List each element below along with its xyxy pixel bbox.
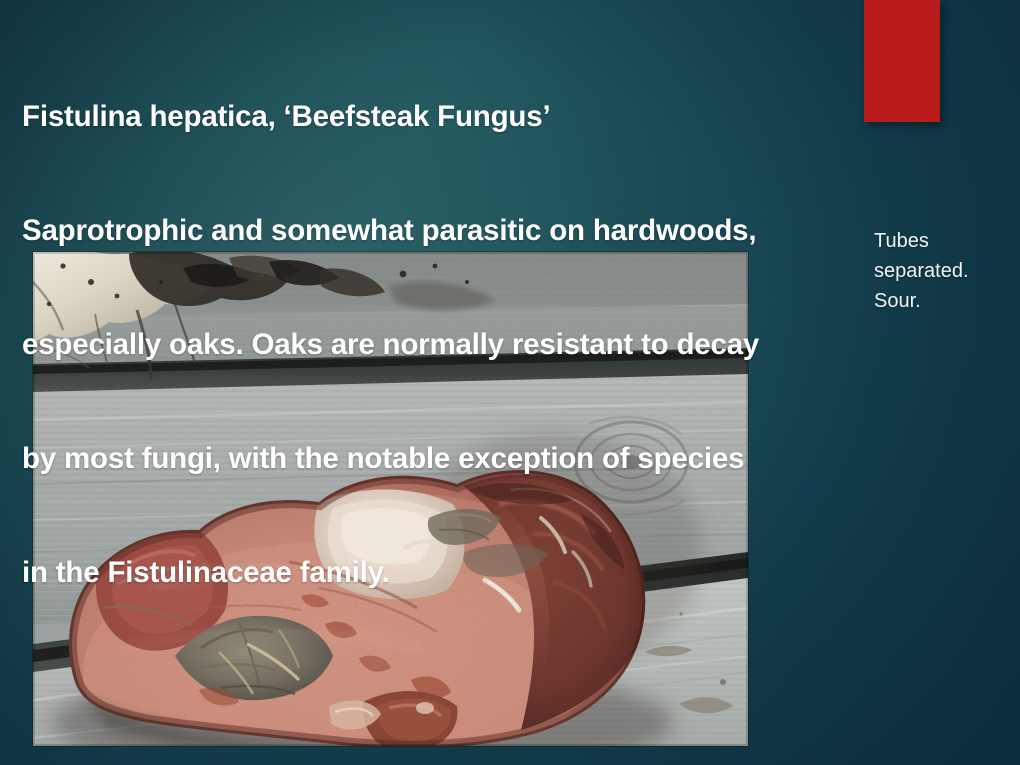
title-line-3: especially oaks. Oaks are normally resis… (22, 326, 927, 364)
title-line-1: Fistulina hepatica, ‘Beefsteak Fungus’ (22, 98, 927, 136)
caption-line-3: Sour. (874, 286, 1020, 316)
caption-line-1: Tubes (874, 226, 1020, 256)
photo-caption: Tubes separated. Sour. (874, 226, 1020, 316)
presentation-slide: Fistulina hepatica, ‘Beefsteak Fungus’ S… (0, 0, 1020, 765)
slide-title-text: Fistulina hepatica, ‘Beefsteak Fungus’ S… (22, 22, 927, 668)
title-line-2: Saprotrophic and somewhat parasitic on h… (22, 212, 927, 250)
title-line-4: by most fungi, with the notable exceptio… (22, 440, 927, 478)
title-line-5: in the Fistulinaceae family. (22, 554, 927, 592)
caption-line-2: separated. (874, 256, 1020, 286)
